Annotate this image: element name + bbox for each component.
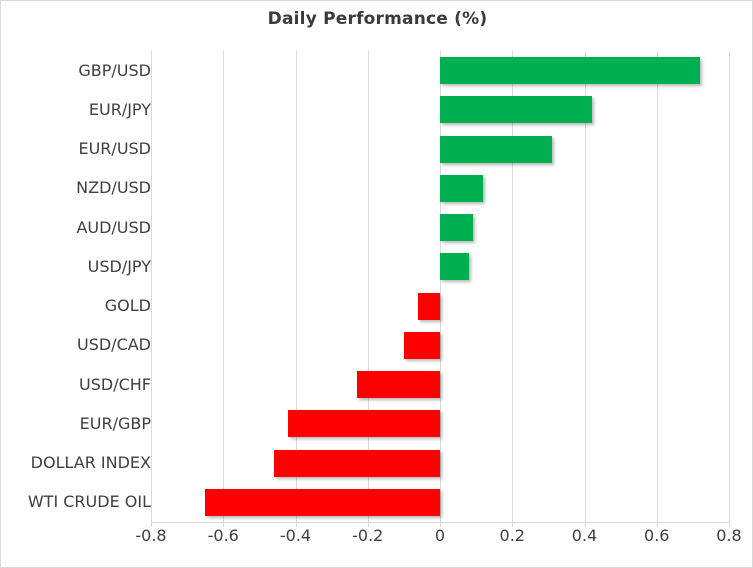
y-axis-label: WTI CRUDE OIL — [9, 494, 151, 510]
bar-row — [151, 247, 729, 286]
bar-usd-chf — [357, 371, 440, 398]
bar-row — [151, 483, 729, 522]
bar-eur-jpy — [440, 96, 592, 123]
x-tick-label: 0 — [435, 528, 445, 544]
bar-dollar-index — [274, 450, 440, 477]
x-tick-label: 0.4 — [572, 528, 597, 544]
bar-row — [151, 130, 729, 169]
y-axis-label: USD/JPY — [9, 259, 151, 275]
bar-eur-gbp — [288, 410, 440, 437]
y-axis-label: GOLD — [9, 298, 151, 314]
x-tick-label: -0.8 — [135, 528, 166, 544]
bar-row — [151, 326, 729, 365]
bar-row — [151, 444, 729, 483]
bar-row — [151, 208, 729, 247]
bar-row — [151, 169, 729, 208]
bar-usd-cad — [404, 332, 440, 359]
bar-gbp-usd — [440, 57, 700, 84]
x-tick-label: 0.8 — [716, 528, 741, 544]
y-axis-label: NZD/USD — [9, 180, 151, 196]
bar-usd-jpy — [440, 253, 469, 280]
daily-performance-bar-chart: Daily Performance (%) GBP/USDEUR/JPYEUR/… — [0, 0, 753, 568]
y-axis-label: EUR/JPY — [9, 102, 151, 118]
bar-aud-usd — [440, 214, 473, 241]
y-axis-label: EUR/GBP — [9, 416, 151, 432]
bar-nzd-usd — [440, 175, 483, 202]
y-axis-label: DOLLAR INDEX — [9, 455, 151, 471]
x-tick-label: 0.6 — [644, 528, 669, 544]
bar-row — [151, 404, 729, 443]
bar-row — [151, 287, 729, 326]
gridline-0.8 — [729, 51, 730, 522]
y-axis-label: GBP/USD — [9, 63, 151, 79]
bar-gold — [418, 293, 440, 320]
x-tick-label: -0.4 — [280, 528, 311, 544]
y-axis-label: EUR/USD — [9, 141, 151, 157]
y-axis-label: USD/CHF — [9, 377, 151, 393]
x-tick-label: 0.2 — [500, 528, 525, 544]
y-axis-label: AUD/USD — [9, 220, 151, 236]
bar-row — [151, 51, 729, 90]
plot-area — [151, 51, 729, 522]
chart-title: Daily Performance (%) — [1, 9, 753, 29]
y-axis-label: USD/CAD — [9, 337, 151, 353]
x-axis-tick-labels: -0.8-0.6-0.4-0.200.20.40.60.8 — [151, 528, 729, 556]
y-axis-category-labels: GBP/USDEUR/JPYEUR/USDNZD/USDAUD/USDUSD/J… — [1, 51, 151, 522]
bar-eur-usd — [440, 136, 552, 163]
bar-wti-crude-oil — [205, 489, 440, 516]
x-tick-label: -0.6 — [208, 528, 239, 544]
bar-row — [151, 365, 729, 404]
x-tick-label: -0.2 — [352, 528, 383, 544]
bar-row — [151, 90, 729, 129]
